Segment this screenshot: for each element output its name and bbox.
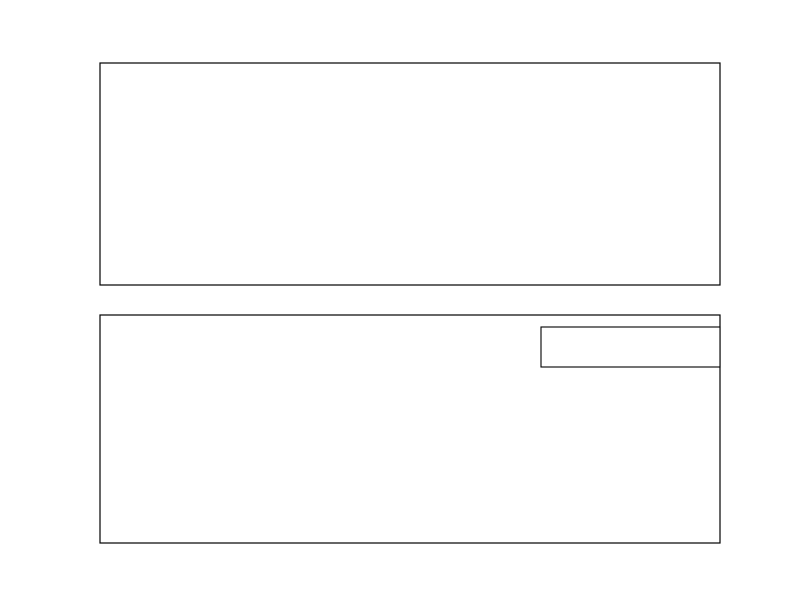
legend-frame [541, 327, 720, 367]
matplotlib-figure [0, 0, 800, 600]
figure-background [0, 0, 800, 600]
figure-container [0, 0, 800, 600]
legend[interactable] [541, 327, 720, 367]
